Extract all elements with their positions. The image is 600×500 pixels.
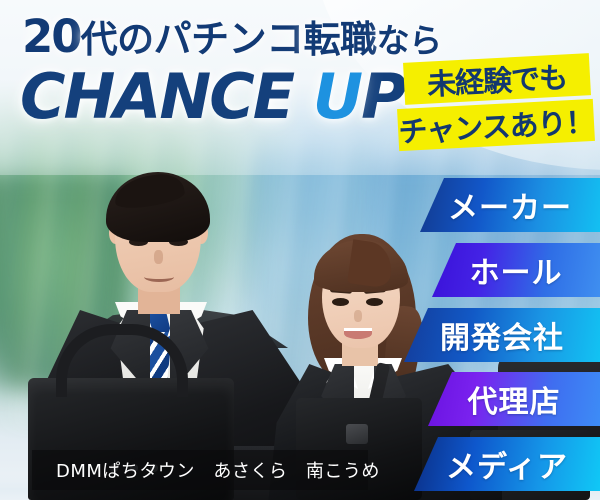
category-label-maker: メーカー xyxy=(448,183,572,227)
man-nose xyxy=(154,250,163,264)
bag-clasp-icon xyxy=(346,424,368,444)
category-label-hall: ホール xyxy=(470,248,563,292)
category-button-media[interactable]: メディア xyxy=(414,437,600,491)
headline-tail: なら xyxy=(377,21,442,60)
category-button-development-company[interactable]: 開発会社 xyxy=(404,308,600,362)
headline-topic: 転職 xyxy=(304,18,377,61)
logo-letter-u: U xyxy=(313,62,361,132)
woman-mouth xyxy=(344,328,372,339)
chance-up-logo: CHANCE UP xyxy=(20,62,405,132)
category-label-agency: 代理店 xyxy=(468,377,561,421)
recruitment-banner: 20代のパチンコ転職なら CHANCE UP 未経験でも チャンスあり！ メーカ… xyxy=(0,0,600,500)
category-button-agency[interactable]: 代理店 xyxy=(428,372,600,426)
woman-eye-right xyxy=(366,298,383,306)
logo-word-chance: CHANCE xyxy=(20,60,293,133)
caption-text: DMMぱちタウン あさくら 南こうめ xyxy=(56,457,380,483)
headline-keyword: パチンコ xyxy=(154,17,304,61)
man-mouth xyxy=(144,272,174,282)
woman-nose xyxy=(354,310,362,322)
woman-eye-left xyxy=(332,298,349,306)
headline: 20代のパチンコ転職なら xyxy=(22,14,422,64)
headline-line-1: 20代のパチンコ転職なら xyxy=(22,14,422,64)
category-button-maker[interactable]: メーカー xyxy=(420,178,600,232)
badge-no-experience-label: 未経験でも xyxy=(426,54,568,103)
headline-age: 20 xyxy=(22,10,81,63)
category-label-development-company: 開発会社 xyxy=(440,313,564,357)
headline-age-suffix: 代の xyxy=(81,18,154,61)
caption-strip: DMMぱちタウン あさくら 南こうめ xyxy=(32,450,368,490)
category-label-media: メディア xyxy=(446,442,568,486)
category-button-hall[interactable]: ホール xyxy=(432,243,600,297)
